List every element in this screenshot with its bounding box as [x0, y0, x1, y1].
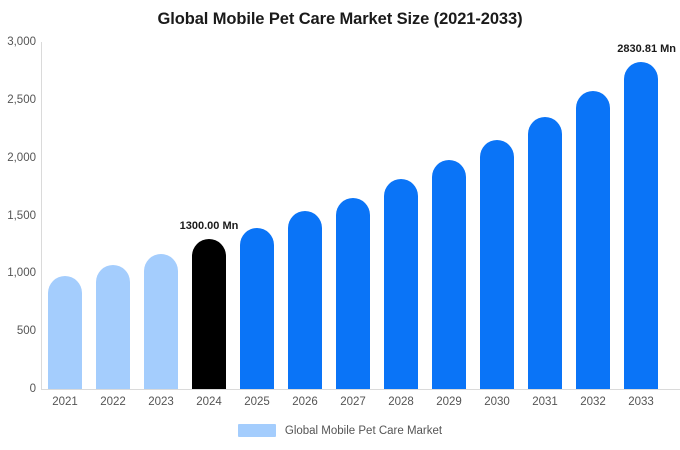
bar-2025[interactable]	[240, 228, 274, 389]
bar-slot: 1300.00 Mn	[185, 42, 233, 389]
bar-slot	[377, 42, 425, 389]
bar-slot	[281, 42, 329, 389]
y-axis-tick-label: 2,000	[2, 152, 36, 164]
x-axis-tick-label-2031: 2031	[521, 396, 569, 408]
bar-2031[interactable]	[528, 117, 562, 389]
chart-title: Global Mobile Pet Care Market Size (2021…	[0, 10, 680, 29]
x-axis-tick-label-2025: 2025	[233, 396, 281, 408]
y-axis-tick-label: 0	[2, 383, 36, 395]
x-axis-tick-label-2028: 2028	[377, 396, 425, 408]
bar-2026[interactable]	[288, 211, 322, 389]
bar-value-label: 2830.81 Mn	[617, 43, 676, 55]
x-axis-tick-label-2030: 2030	[473, 396, 521, 408]
y-axis-tick-label: 1,000	[2, 267, 36, 279]
x-axis-tick-label-2026: 2026	[281, 396, 329, 408]
legend-swatch-icon	[238, 424, 276, 437]
bar-2021[interactable]	[48, 276, 82, 389]
bar-2032[interactable]	[576, 91, 610, 389]
bar-slot	[473, 42, 521, 389]
bar-2028[interactable]	[384, 179, 418, 390]
bar-slot	[137, 42, 185, 389]
x-axis-tick-label-2022: 2022	[89, 396, 137, 408]
y-axis-tick-label: 3,000	[2, 36, 36, 48]
bar-value-label: 1300.00 Mn	[180, 220, 239, 232]
legend-label: Global Mobile Pet Care Market	[285, 425, 442, 437]
x-axis-tick-label-2029: 2029	[425, 396, 473, 408]
x-axis-tick-label-2032: 2032	[569, 396, 617, 408]
y-axis-tick-label: 2,500	[2, 94, 36, 106]
y-axis-tick-labels: 05001,0001,5002,0002,5003,000	[0, 0, 36, 450]
bar-slot	[425, 42, 473, 389]
bar-slot	[521, 42, 569, 389]
x-axis-tick-label-2027: 2027	[329, 396, 377, 408]
bar-slot	[89, 42, 137, 389]
bar-chart: Global Mobile Pet Care Market Size (2021…	[0, 0, 680, 450]
bar-2022[interactable]	[96, 265, 130, 389]
chart-legend: Global Mobile Pet Care Market	[0, 424, 680, 437]
bar-slot: 2830.81 Mn	[617, 42, 665, 389]
bar-2030[interactable]	[480, 140, 514, 389]
bar-2023[interactable]	[144, 254, 178, 389]
x-axis-tick-label-2021: 2021	[41, 396, 89, 408]
x-axis-tick-label-2023: 2023	[137, 396, 185, 408]
bar-slot	[569, 42, 617, 389]
bar-slot	[41, 42, 89, 389]
x-axis-tick-labels: 2021202220232024202520262027202820292030…	[41, 396, 680, 416]
x-axis-tick-label-2033: 2033	[617, 396, 665, 408]
y-axis-tick-label: 500	[2, 325, 36, 337]
bar-slot	[329, 42, 377, 389]
x-axis-line	[41, 389, 680, 390]
bar-2033[interactable]: 2830.81 Mn	[624, 62, 658, 389]
bar-2024[interactable]: 1300.00 Mn	[192, 239, 226, 389]
y-axis-tick-label: 1,500	[2, 210, 36, 222]
bar-series: 1300.00 Mn2830.81 Mn	[41, 42, 680, 389]
bar-2027[interactable]	[336, 198, 370, 389]
bar-slot	[233, 42, 281, 389]
bar-2029[interactable]	[432, 160, 466, 389]
x-axis-tick-label-2024: 2024	[185, 396, 233, 408]
